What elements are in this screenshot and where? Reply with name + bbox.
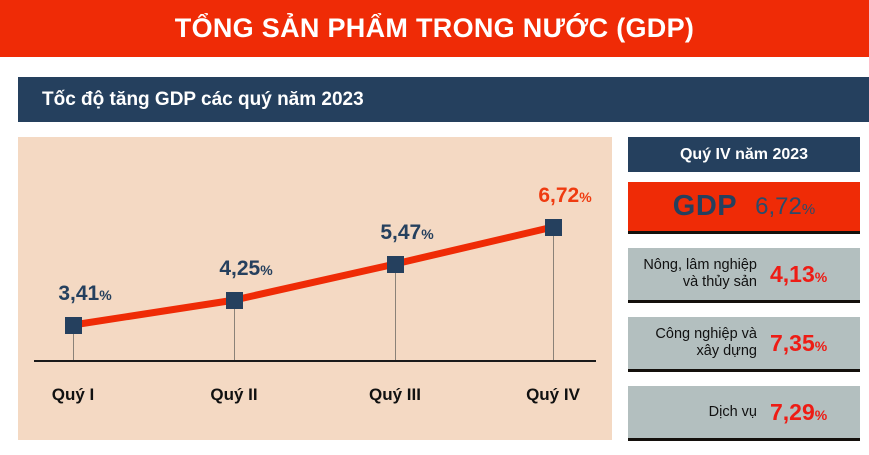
data-point-label: 3,41% xyxy=(58,282,111,306)
data-point-dropline xyxy=(395,264,396,360)
data-point-label: 6,72% xyxy=(538,184,591,208)
data-point-value: 3,41 xyxy=(58,282,99,305)
x-axis-tick-label: Quý IV xyxy=(526,385,580,405)
data-point-unit: % xyxy=(260,262,272,278)
sector-value-unit: % xyxy=(815,407,827,423)
header-banner: TỔNG SẢN PHẨM TRONG NƯỚC (GDP) xyxy=(0,0,869,57)
sector-value-number: 7,35 xyxy=(770,330,815,356)
gdp-value-number: 6,72 xyxy=(755,193,802,220)
stat-row-sector: Nông, lâm nghiệp và thủy sản4,13% xyxy=(628,248,860,303)
data-point-marker xyxy=(226,292,243,309)
x-axis-tick-label: Quý III xyxy=(369,385,421,405)
sector-label: Dịch vụ xyxy=(709,404,757,421)
trend-line xyxy=(73,227,553,325)
gdp-value-unit: % xyxy=(802,201,815,218)
gdp-value: 6,72% xyxy=(755,193,815,221)
stat-row-sector: Dịch vụ7,29% xyxy=(628,386,860,441)
sector-value-unit: % xyxy=(815,338,827,354)
data-point-value: 4,25 xyxy=(219,257,260,280)
sector-value-number: 7,29 xyxy=(770,399,815,425)
data-point-dropline xyxy=(553,227,554,360)
x-axis-tick-label: Quý I xyxy=(52,385,95,405)
data-point-marker xyxy=(65,317,82,334)
sector-value: 7,29% xyxy=(770,399,848,426)
data-point-dropline xyxy=(234,300,235,360)
data-point-marker xyxy=(387,256,404,273)
data-point-label: 4,25% xyxy=(219,257,272,281)
chart-panel: 3,41%Quý I4,25%Quý II5,47%Quý III6,72%Qu… xyxy=(18,137,612,440)
stat-row-gdp: GDP 6,72% xyxy=(628,182,860,234)
subtitle-bar: Tốc độ tăng GDP các quý năm 2023 xyxy=(18,77,869,122)
stat-panel: Quý IV năm 2023 GDP 6,72% Nông, lâm nghi… xyxy=(628,137,860,455)
line-chart-plot: 3,41%Quý I4,25%Quý II5,47%Quý III6,72%Qu… xyxy=(18,137,612,440)
stat-panel-header: Quý IV năm 2023 xyxy=(628,137,860,172)
sector-value: 7,35% xyxy=(770,330,848,357)
sector-value-unit: % xyxy=(815,269,827,285)
data-point-label: 5,47% xyxy=(380,221,433,245)
sector-row-list: Nông, lâm nghiệp và thủy sản4,13%Công ng… xyxy=(628,248,860,441)
data-point-unit: % xyxy=(421,226,433,242)
data-point-value: 6,72 xyxy=(538,184,579,207)
chart-subtitle: Tốc độ tăng GDP các quý năm 2023 xyxy=(18,89,364,111)
data-point-value: 5,47 xyxy=(380,221,421,244)
data-point-unit: % xyxy=(579,189,591,205)
sector-value-number: 4,13 xyxy=(770,261,815,287)
data-point-unit: % xyxy=(99,287,111,303)
sector-label: Công nghiệp và xây dựng xyxy=(655,326,757,360)
x-axis-tick-label: Quý II xyxy=(210,385,257,405)
page-title: TỔNG SẢN PHẨM TRONG NƯỚC (GDP) xyxy=(175,13,694,44)
data-point-marker xyxy=(545,219,562,236)
sector-label: Nông, lâm nghiệp và thủy sản xyxy=(643,257,757,291)
stat-panel-header-label: Quý IV năm 2023 xyxy=(680,146,808,164)
x-axis-line xyxy=(34,360,596,362)
gdp-label: GDP xyxy=(673,190,737,223)
sector-value: 4,13% xyxy=(770,261,848,288)
stat-row-sector: Công nghiệp và xây dựng7,35% xyxy=(628,317,860,372)
